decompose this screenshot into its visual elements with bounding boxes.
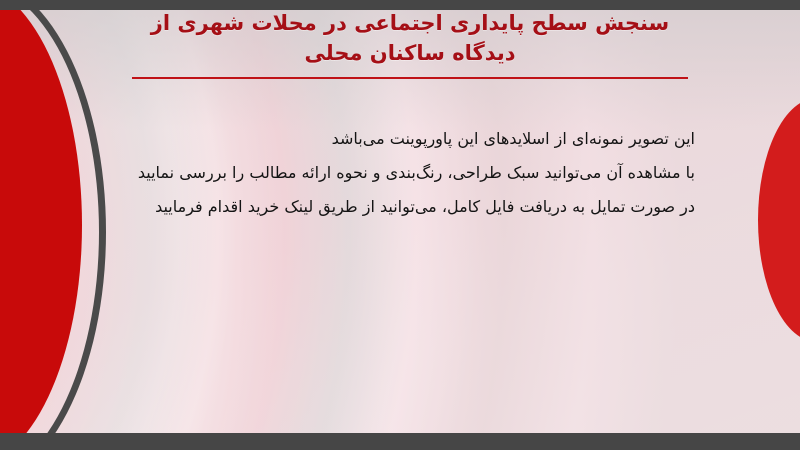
slide-body-text: این تصویر نمونه‌ای از اسلایدهای این پاور… xyxy=(110,122,695,224)
slide-title-line-1: سنجش سطح پایداری اجتماعی در محلات شهری ا… xyxy=(120,8,700,38)
slide-bottom-frame-bar xyxy=(0,433,800,450)
body-line-2: با مشاهده آن می‌توانید سبک طراحی، رنگ‌بن… xyxy=(110,156,695,190)
body-line-3: در صورت تمایل به دریافت فایل کامل، می‌تو… xyxy=(110,190,695,224)
slide-title-line-2: دیدگاه ساکنان محلی xyxy=(120,38,700,68)
body-line-1: این تصویر نمونه‌ای از اسلایدهای این پاور… xyxy=(110,122,695,156)
presentation-slide: سنجش سطح پایداری اجتماعی در محلات شهری ا… xyxy=(0,0,800,450)
slide-title: سنجش سطح پایداری اجتماعی در محلات شهری ا… xyxy=(120,8,700,68)
title-underline-rule xyxy=(132,77,688,79)
